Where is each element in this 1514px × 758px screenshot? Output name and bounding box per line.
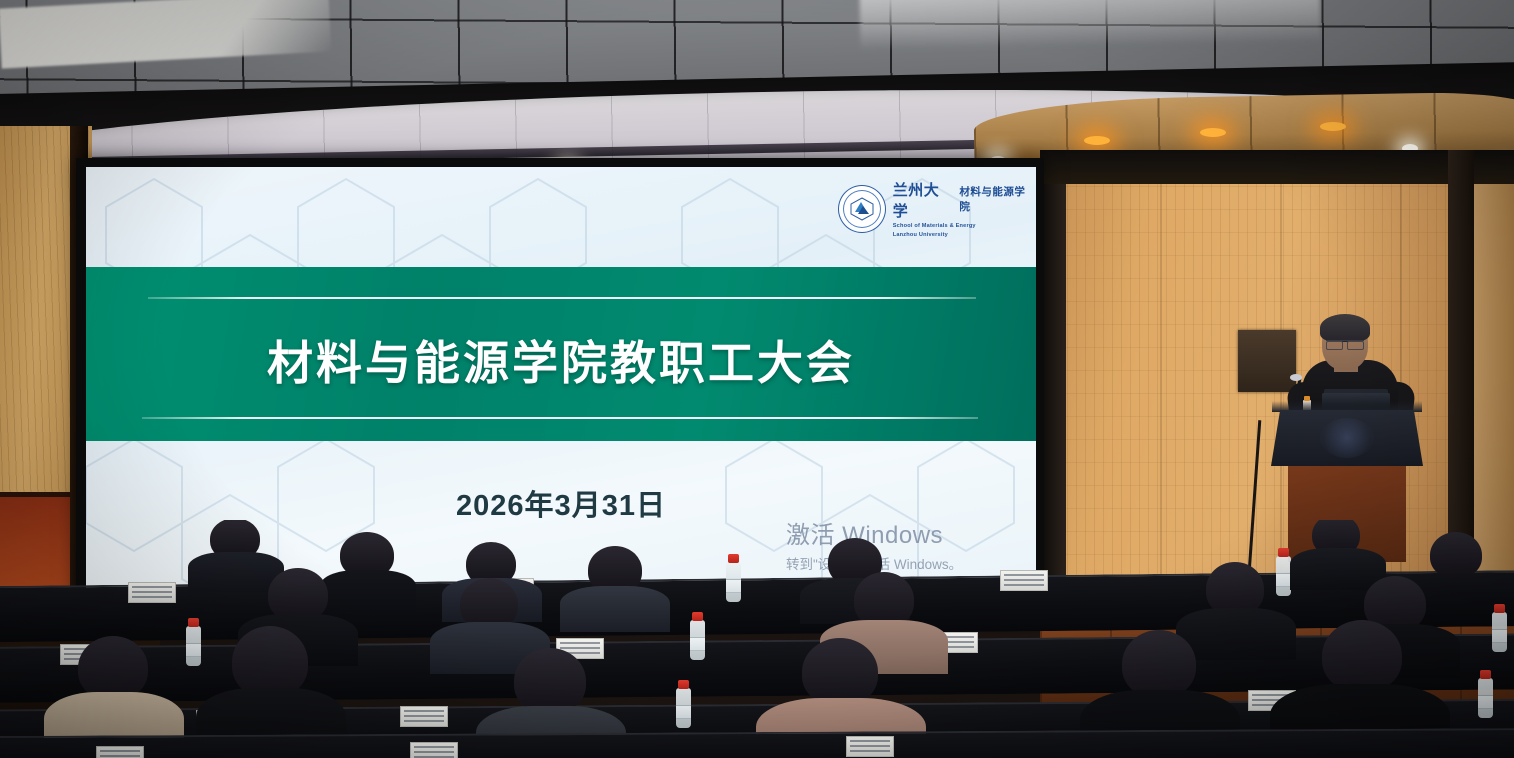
speaker-glasses: [1326, 340, 1364, 348]
logo-english-line-1: School of Materials & Energy: [893, 222, 1036, 230]
seat-name-card: [400, 706, 448, 727]
microphone-head: [1290, 374, 1302, 381]
wall-right-top-trim: [1040, 150, 1514, 184]
seat-name-card: [128, 582, 176, 603]
school-logo: 兰州大学 材料与能源学院 School of Materials & Energ…: [838, 179, 1036, 239]
seat-name-card: [1000, 570, 1048, 591]
water-bottle: [1478, 678, 1493, 718]
spotlight-amber: [1084, 136, 1110, 145]
audience-area: [0, 520, 1514, 758]
logo-english-line-2: Lanzhou University: [893, 231, 1036, 239]
auditorium-scene: 兰州大学 材料与能源学院 School of Materials & Energ…: [0, 0, 1514, 758]
university-seal-icon: [838, 185, 886, 233]
slide-divider-top: [148, 297, 976, 299]
water-bottle: [1492, 612, 1507, 652]
water-bottle: [726, 562, 741, 602]
water-bottle: [676, 688, 691, 728]
logo-chinese-line: 兰州大学 材料与能源学院: [893, 179, 1036, 221]
water-bottle: [690, 620, 705, 660]
spotlight-amber: [1200, 128, 1226, 137]
slide-title: 材料与能源学院教职工大会: [86, 327, 1036, 393]
seat-name-card: [846, 736, 894, 757]
seal-inner-ring: [843, 190, 881, 228]
wall-plaque: [1238, 330, 1296, 392]
seat-name-card: [96, 746, 144, 758]
audience-member: [1290, 520, 1386, 584]
logo-university-name: 兰州大学: [893, 179, 955, 221]
logo-text-block: 兰州大学 材料与能源学院 School of Materials & Energ…: [893, 179, 1036, 239]
seat-name-card: [410, 742, 458, 758]
spotlight-amber: [1320, 122, 1346, 131]
slide-divider-bottom: [142, 417, 978, 419]
ceiling-light-panel-right: [860, 0, 1321, 50]
speaker-hair: [1320, 314, 1370, 342]
podium-emblem: [1320, 418, 1374, 458]
logo-school-name: 材料与能源学院: [959, 184, 1036, 214]
audience-member: [560, 546, 670, 622]
